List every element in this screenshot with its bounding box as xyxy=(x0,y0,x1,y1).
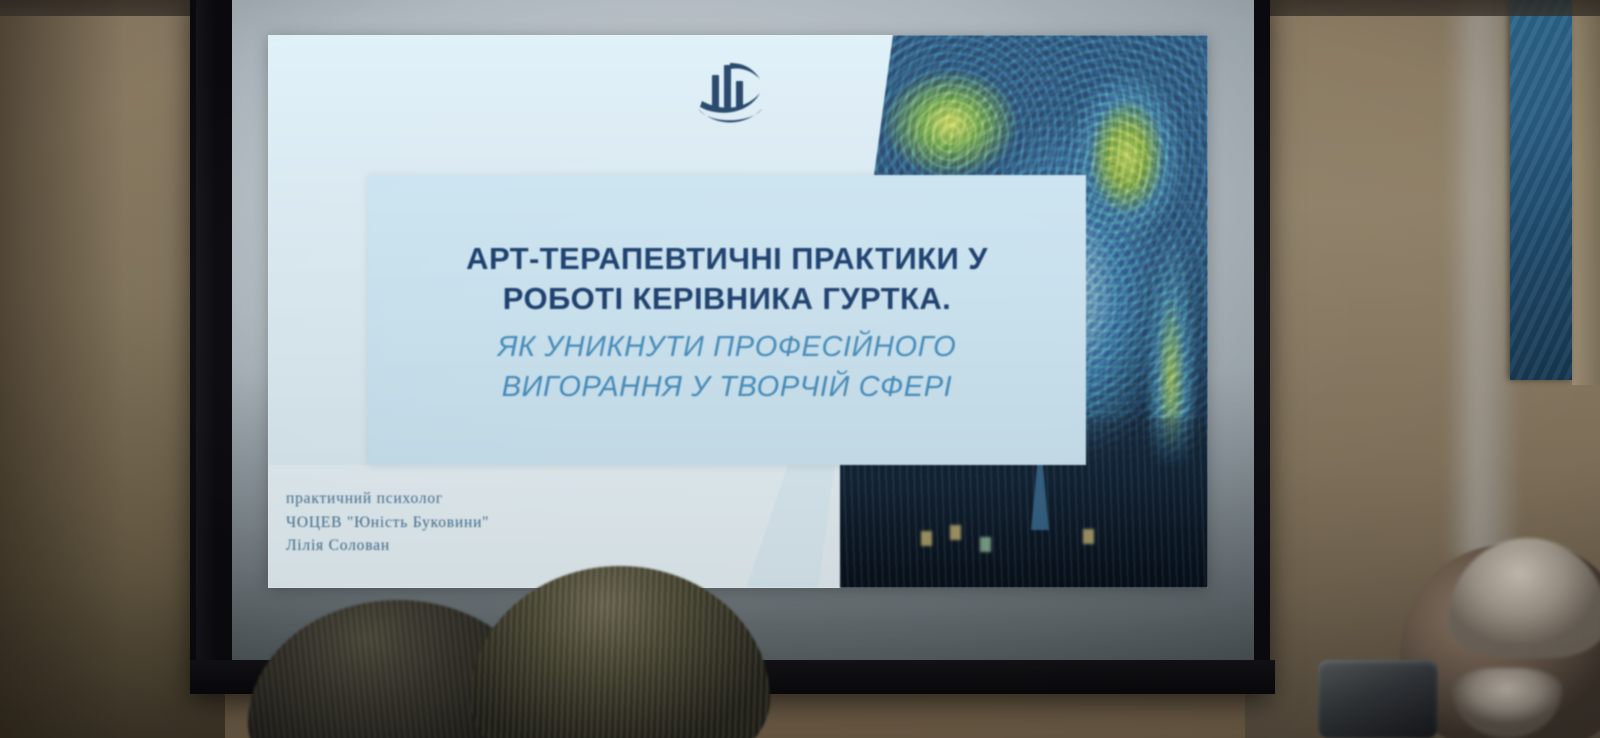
painting-window-light xyxy=(950,525,961,540)
subtitle-line-2: ВИГОРАННЯ У ТВОРЧІЙ СФЕРІ xyxy=(498,367,957,407)
painting-window-light xyxy=(980,537,991,552)
projector-screen-left-post xyxy=(196,0,216,692)
slide-title: АРТ-ТЕРАПЕВТИЧНІ ПРАКТИКИ У РОБОТІ КЕРІВ… xyxy=(466,239,988,320)
wall-edge xyxy=(1572,0,1600,385)
painting-window-light xyxy=(921,531,932,546)
photo-scene: АРТ-ТЕРАПЕВТИЧНІ ПРАКТИКИ У РОБОТІ КЕРІВ… xyxy=(0,0,1600,738)
sailboat-logo-icon xyxy=(686,53,772,133)
credit-line-author: Лілія Солован xyxy=(286,534,716,558)
framed-picture xyxy=(1510,0,1572,380)
presentation-slide: АРТ-ТЕРАПЕВТИЧНІ ПРАКТИКИ У РОБОТІ КЕРІВ… xyxy=(268,35,1208,588)
slide-title-card: АРТ-ТЕРАПЕВТИЧНІ ПРАКТИКИ У РОБОТІ КЕРІВ… xyxy=(368,175,1086,465)
slide-credits: практичний психолог ЧОЦЕВ "Юність Букови… xyxy=(286,487,716,558)
slide-subtitle: ЯК УНИКНУТИ ПРОФЕСІЙНОГО ВИГОРАННЯ У ТВО… xyxy=(498,327,957,407)
title-line-2: РОБОТІ КЕРІВНИКА ГУРТКА. xyxy=(466,279,988,319)
subtitle-line-1: ЯК УНИКНУТИ ПРОФЕСІЙНОГО xyxy=(498,327,957,367)
handheld-device xyxy=(1318,660,1438,738)
credit-line-organization: ЧОЦЕВ "Юність Буковини" xyxy=(286,511,716,535)
painting-window-light xyxy=(1083,529,1094,544)
credit-line-role: практичний психолог xyxy=(286,487,716,511)
wall-light-band xyxy=(1445,0,1515,560)
title-line-1: АРТ-ТЕРАПЕВТИЧНІ ПРАКТИКИ У xyxy=(466,239,988,279)
